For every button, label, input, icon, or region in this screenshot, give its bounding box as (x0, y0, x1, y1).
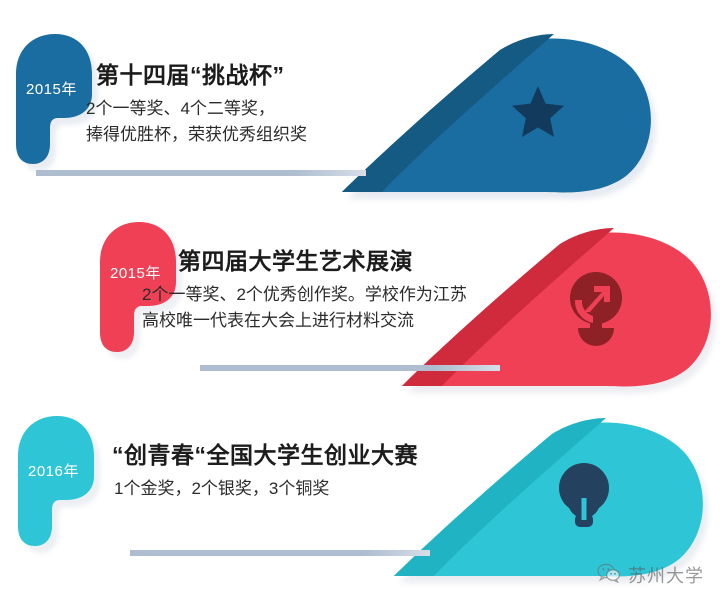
row-body-line: 捧得优胜杯，荣获优秀组织奖 (86, 122, 307, 148)
timeline-row: 2015年 第四届大学生艺术展演 2个一等奖、2个优秀创作奖。学校作为江苏 高校… (0, 210, 720, 400)
row-body-line: 1个金奖，2个银奖，3个铜奖 (114, 476, 418, 502)
row-text-block: “创青春“全国大学生创业大赛 1个金奖，2个银奖，3个铜奖 (112, 436, 418, 502)
watermark: 苏州大学 (597, 562, 704, 588)
year-badge-label: 2016年 (28, 460, 79, 481)
wechat-icon (597, 563, 621, 588)
timeline-row: 2015年 第十四届“挑战杯” 2个一等奖、4个二等奖， 捧得优胜杯，荣获优秀组… (0, 18, 720, 208)
row-headline: “创青春“全国大学生创业大赛 (112, 436, 418, 470)
infographic-canvas: 2015年 第十四届“挑战杯” 2个一等奖、4个二等奖， 捧得优胜杯，荣获优秀组… (0, 0, 720, 600)
row-headline: 第四届大学生艺术展演 (178, 242, 467, 276)
row-divider (200, 365, 500, 371)
row-divider (36, 170, 366, 176)
year-badge-label: 2015年 (110, 262, 161, 283)
year-badge-label: 2015年 (26, 78, 77, 99)
teardrop-shape-0 (340, 34, 660, 194)
row-body-line: 2个一等奖、4个二等奖， (86, 96, 307, 122)
teardrop-body (340, 34, 660, 194)
year-badge-pin-shape (14, 414, 100, 549)
row-headline: 第十四届“挑战杯” (96, 56, 307, 90)
year-badge-2: 2016年 (14, 414, 100, 549)
teardrop-shape-2 (392, 418, 712, 578)
teardrop-body (392, 418, 712, 578)
row-divider (130, 550, 430, 556)
row-text-block: 第十四届“挑战杯” 2个一等奖、4个二等奖， 捧得优胜杯，荣获优秀组织奖 (96, 56, 307, 149)
row-text-block: 第四届大学生艺术展演 2个一等奖、2个优秀创作奖。学校作为江苏 高校唯一代表在大… (178, 242, 467, 335)
watermark-label: 苏州大学 (628, 562, 704, 588)
row-body-line: 高校唯一代表在大会上进行材料交流 (142, 308, 467, 334)
timeline-row: 2016年 “创青春“全国大学生创业大赛 1个金奖，2个银奖，3个铜奖 (0, 398, 720, 588)
row-body-line: 2个一等奖、2个优秀创作奖。学校作为江苏 (142, 282, 467, 308)
